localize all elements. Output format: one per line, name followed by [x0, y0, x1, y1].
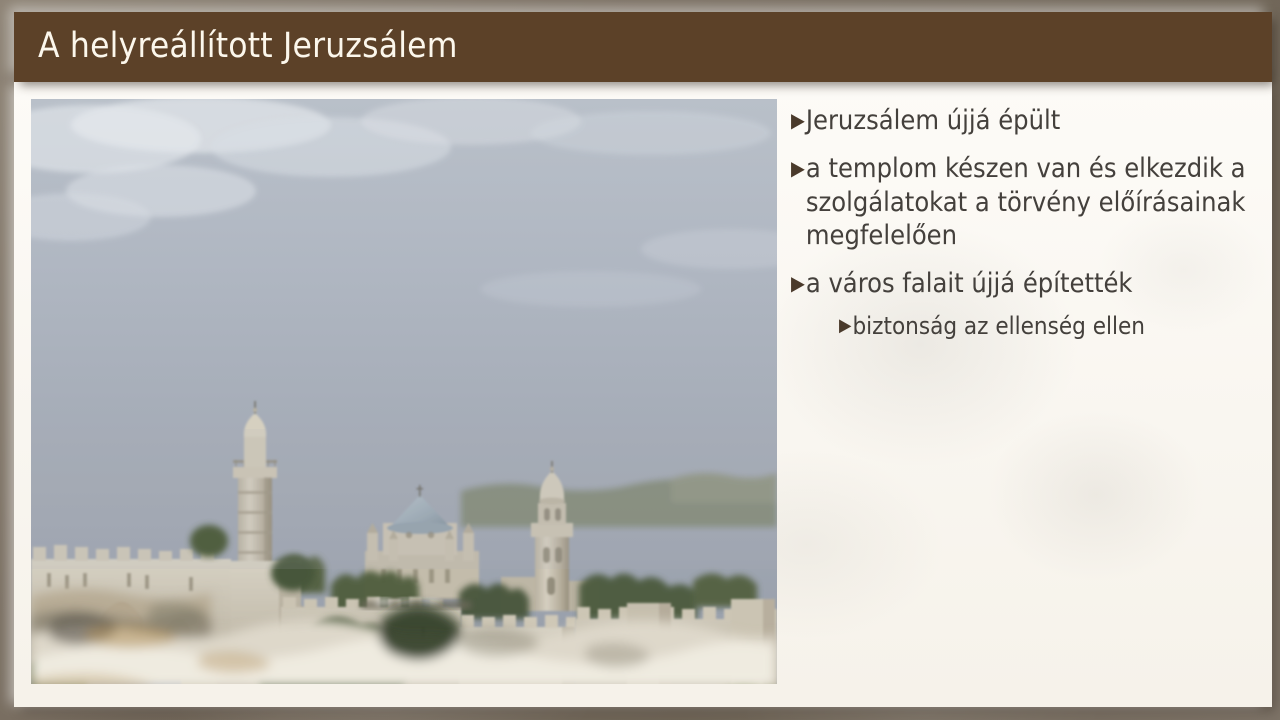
- bullet-triangle-icon: ▶: [791, 104, 805, 130]
- bullet-list: ▶ Jeruzsálem újjá épült ▶ a templom kész…: [791, 104, 1257, 355]
- jerusalem-walls-photo: [31, 99, 777, 684]
- slide-title-bar: A helyreállított Jeruzsálem: [14, 12, 1272, 82]
- list-item: ▶ a templom készen van és elkezdik a szo…: [791, 152, 1257, 253]
- list-item-text: a templom készen van és elkezdik a szolg…: [806, 152, 1257, 253]
- list-item: ▶ a város falait újjá építették: [791, 267, 1257, 301]
- list-item-text: a város falait újjá építették: [806, 267, 1257, 301]
- list-item-sub: ▶ biztonság az ellenség ellen: [791, 311, 1257, 341]
- bullet-triangle-icon: ▶: [791, 267, 805, 293]
- list-item: ▶ Jeruzsálem újjá épült: [791, 104, 1257, 138]
- page-title: A helyreállított Jeruzsálem: [38, 26, 458, 66]
- bullet-triangle-icon: ▶: [791, 152, 805, 178]
- bullet-triangle-icon: ▶: [839, 311, 851, 335]
- list-item-text: biztonság az ellenség ellen: [852, 311, 1257, 341]
- list-item-text: Jeruzsálem újjá épült: [806, 104, 1257, 138]
- slide-content-panel: ▶ Jeruzsálem újjá épült ▶ a templom kész…: [14, 82, 1272, 707]
- slide-frame: A helyreállított Jeruzsálem: [0, 0, 1280, 720]
